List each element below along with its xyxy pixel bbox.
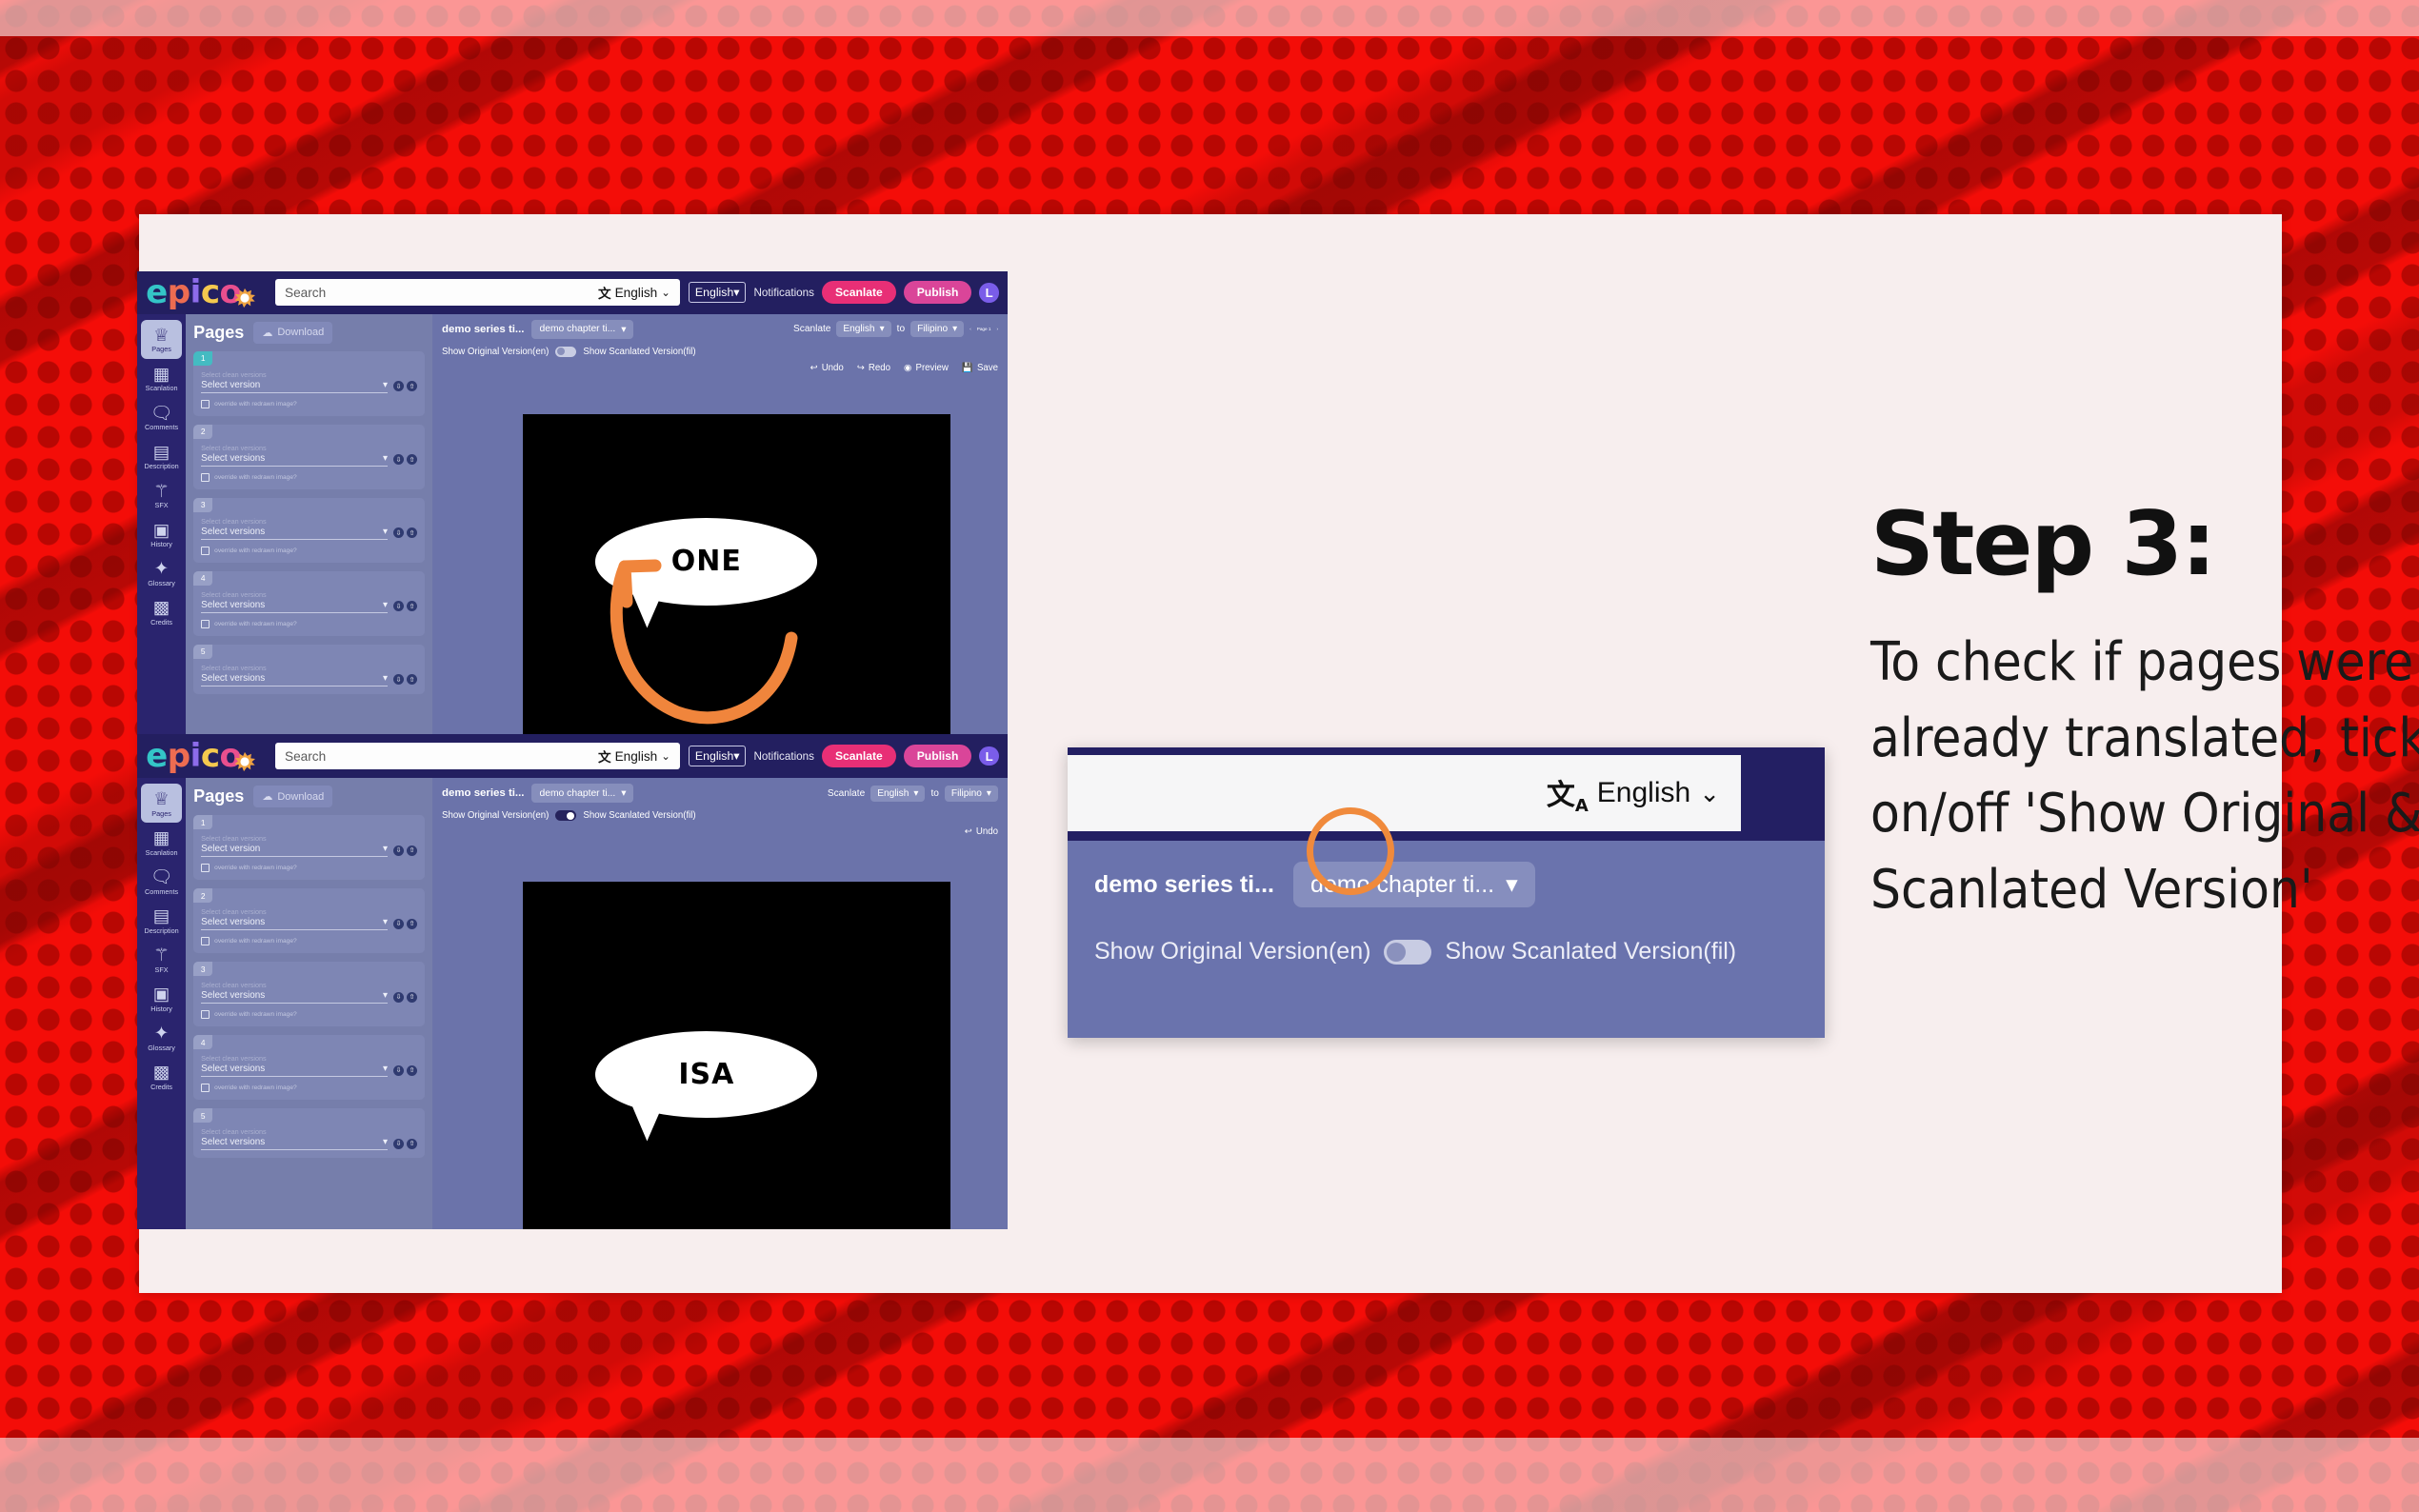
version-toggle[interactable] [555,347,576,357]
pages-panel-header: Pages ☁ Download [193,322,425,344]
logo-letter-p: p [168,737,190,775]
page-card-version-row: Select versions▾ ⇩⇧ [201,917,417,930]
scanlate-label: Scanlate [793,324,830,334]
download-label: Download [277,327,324,338]
search-input[interactable]: Search [285,749,598,764]
page-card-version-row: Select versions▾ ⇩⇧ [201,673,417,686]
override-checkbox[interactable] [201,620,210,628]
page-number-badge: 5 [193,1108,212,1123]
page-card-version-row: Select versions▾ ⇩⇧ [201,990,417,1004]
cloud-download-icon[interactable]: ⇩ [393,454,404,465]
override-checkbox-row[interactable]: override with redrawn image? [201,864,417,872]
translate-icon: 文 [598,283,611,302]
version-toggle-row: Show Original Version(en) Show Scanlated… [442,810,998,821]
sidebar-item-comments[interactable]: 🗨 Comments [137,862,186,901]
page-download-icons[interactable]: ⇩⇧ [393,1139,417,1149]
document-icon: ▤ [153,907,170,925]
language-button[interactable]: English▾ [689,746,747,766]
page-card-label: Select clean versions [201,834,417,843]
sidebar-item-label: Comments [145,888,178,895]
page-card-version-row: Select version▾ ⇩⇧ [201,844,417,857]
bottom-overlay-band [0,1438,2419,1512]
app-sidebar: ♕ Pages ▦ Scanlation 🗨 Comments ▤ Descri… [137,314,186,749]
page-card-label: Select clean versions [201,664,417,672]
scanlate-button[interactable]: Scanlate [822,281,896,304]
sfx-icon: ⚚ [153,483,170,501]
callout-show-original-label: Show Original Version(en) [1094,938,1370,965]
chevron-down-icon: ▾ [383,527,388,537]
download-button[interactable]: ☁ Download [253,322,332,344]
sidebar-item-label: Pages [151,810,171,817]
page-canvas[interactable]: ISA [523,882,950,1229]
logo-splat-icon [234,743,267,775]
target-language-dropdown[interactable]: Filipino▾ [945,786,998,802]
chevron-down-icon: ⌄ [1699,779,1720,808]
page-number-badge: 3 [193,962,212,976]
comment-sparkle-icon: 🗨 [150,868,173,886]
chevron-down-icon: ▾ [383,600,388,610]
page-card[interactable]: 5 Select clean versions Select versions▾… [193,645,425,694]
chevron-down-icon: ⌄ [661,749,670,763]
page-download-icons[interactable]: ⇩⇧ [393,1065,417,1076]
cloud-download-icon[interactable]: ⇩ [393,1065,404,1076]
select-version-dropdown[interactable]: Select version▾ [201,380,388,393]
cloud-download-icon[interactable]: ⇩ [393,674,404,685]
cloud-upload-icon[interactable]: ⇧ [407,381,417,391]
page-number-badge: 5 [193,645,212,659]
sidebar-item-credits[interactable]: ▩ Credits [137,592,186,631]
scanlate-language-group: Scanlate English▾ to Filipino▾ [828,786,998,802]
sidebar-item-pages[interactable]: ♕ Pages [141,320,182,359]
override-checkbox-row[interactable]: override with redrawn image? [201,473,417,482]
search-input[interactable]: Search [285,286,598,300]
toggle-knob [567,812,574,820]
epico-logo: epico [146,737,267,775]
app-screenshot-original-version: epico Search 文 English ⌄ English▾ Notifi… [137,271,1008,749]
pages-panel: Pages ☁ Download 1 Select clean versions… [186,314,432,749]
chevron-down-icon: ▾ [952,324,957,334]
page-number-badge: 3 [193,498,212,512]
callout-show-scanlated-label: Show Scanlated Version(fil) [1445,938,1736,965]
page-canvas[interactable]: ONE [523,414,950,749]
chevron-down-icon: ▾ [383,917,388,927]
callout-version-toggle-row: Show Original Version(en) Show Scanlated… [1094,938,1798,965]
sidebar-item-label: Glossary [148,1044,175,1051]
sidebar-item-credits[interactable]: ▩ Credits [137,1057,186,1096]
search-bar[interactable]: Search 文 English ⌄ [275,279,680,306]
sparkles-icon: ✦ [154,560,170,578]
logo-letter-c: c [201,273,220,311]
override-checkbox[interactable] [201,547,210,555]
pages-panel: Pages ☁ Download 1 Select clean versions… [186,778,432,1229]
page-card-version-row: Select versions▾ ⇩⇧ [201,453,417,467]
chevron-down-icon: ▾ [621,324,626,335]
page-card-label: Select clean versions [201,517,417,526]
panel-icon: ▦ [153,366,170,384]
cloud-download-icon[interactable]: ⇩ [393,846,404,856]
override-checkbox[interactable] [201,400,210,408]
page-card-label: Select clean versions [201,981,417,989]
cloud-upload-icon[interactable]: ⇧ [407,674,417,685]
select-version-dropdown[interactable]: Select versions▾ [201,673,388,686]
search-language-label: English [615,286,658,300]
redo-icon: ↪ [857,363,865,373]
notifications-link[interactable]: Notifications [753,287,814,299]
sidebar-item-label: Scanlation [146,385,178,391]
credits-icon: ▩ [153,1064,170,1082]
page-card-label: Select clean versions [201,444,417,452]
sidebar-item-label: Glossary [148,580,175,587]
app-workspace: Pages ☁ Download 1 Select clean versions… [186,778,1008,1229]
search-bar[interactable]: Search 文 English ⌄ [275,743,680,770]
chevron-right-icon[interactable]: › [996,327,998,331]
publish-button[interactable]: Publish [904,281,972,304]
override-checkbox[interactable] [201,1084,210,1092]
override-checkbox-row[interactable]: override with redrawn image? [201,620,417,628]
sidebar-item-label: SFX [155,502,169,508]
download-button[interactable]: ☁ Download [253,786,332,807]
override-checkbox-row[interactable]: override with redrawn image? [201,400,417,408]
app-sidebar: ♕ Pages ▦ Scanlation 🗨 Comments ▤ Descri… [137,778,186,1229]
pages-panel-header: Pages ☁ Download [193,786,425,807]
cloud-download-icon: ☁ [262,327,272,339]
show-scanlated-label: Show Scanlated Version(fil) [583,347,695,357]
sidebar-item-label: History [150,541,172,547]
show-original-label: Show Original Version(en) [442,347,549,357]
sidebar-item-scanlation[interactable]: ▦ Scanlation [137,823,186,862]
topbar-actions: English▾ Notifications Scanlate Publish … [689,745,999,767]
override-checkbox-label: override with redrawn image? [214,1011,297,1018]
cloud-upload-icon[interactable]: ⇧ [407,919,417,929]
search-language-selector[interactable]: 文 English ⌄ [598,283,670,302]
select-version-dropdown[interactable]: Select versions▾ [201,527,388,540]
scanlate-button[interactable]: Scanlate [822,745,896,767]
cloud-upload-icon[interactable]: ⇧ [407,454,417,465]
scanlate-language-group: Scanlate English▾ to Filipino▾ ‹Page 1› [793,321,998,337]
override-checkbox-label: override with redrawn image? [214,401,297,408]
sidebar-item-comments[interactable]: 🗨 Comments [137,398,186,437]
document-icon: ▤ [153,444,170,462]
override-checkbox-label: override with redrawn image? [214,621,297,627]
series-title: demo series ti... [442,787,524,799]
chevron-down-icon: ▾ [383,673,388,684]
chapter-dropdown[interactable]: demo chapter ti...▾ [531,784,633,803]
select-version-dropdown[interactable]: Select versions▾ [201,1064,388,1077]
toggle-knob [557,348,565,355]
canvas-header-row-titles: demo series ti... demo chapter ti...▾ Sc… [442,320,998,339]
chevron-down-icon: ▾ [880,324,885,334]
select-version-dropdown[interactable]: Select versions▾ [201,1137,388,1150]
page-card[interactable]: 1 Select clean versions Select version▾ … [193,815,425,880]
page-card-version-row: Select versions▾ ⇩⇧ [201,600,417,613]
publish-button[interactable]: Publish [904,745,972,767]
cloud-download-icon[interactable]: ⇩ [393,601,404,611]
sidebar-item-label: Credits [150,1084,172,1090]
cloud-upload-icon[interactable]: ⇧ [407,992,417,1003]
select-version-dropdown[interactable]: Select versions▾ [201,600,388,613]
pages-panel-title: Pages [193,786,244,806]
version-toggle-row: Show Original Version(en) Show Scanlated… [442,347,998,357]
sidebar-item-history[interactable]: ▣ History [137,515,186,554]
chevron-down-icon: ▾ [383,1064,388,1074]
page-card[interactable]: 4 Select clean versions Select versions▾… [193,1035,425,1100]
page-card-label: Select clean versions [201,370,417,379]
page-download-icons[interactable]: ⇩⇧ [393,992,417,1003]
canvas-header-row-titles: demo series ti... demo chapter ti...▾ Sc… [442,784,998,803]
download-label: Download [277,791,324,803]
chevron-down-icon: ⌄ [661,286,670,299]
logo-splat-icon [234,279,267,311]
search-language-label: English [615,749,658,764]
undo-icon: ↩ [810,363,818,373]
page-card[interactable]: 3 Select clean versions Select versions▾… [193,498,425,563]
callout-title-row: demo series ti... demo chapter ti... ▾ [1094,862,1798,907]
page-title: Step 3: [1870,500,2419,588]
app-topbar: epico Search 文 English ⌄ English▾ Notifi… [137,271,1008,314]
chapter-selector-group: demo series ti... demo chapter ti...▾ [442,784,633,803]
sidebar-item-description[interactable]: ▤ Description [137,437,186,476]
app-workspace: Pages ☁ Download 1 Select clean versions… [186,314,1008,749]
sparkles-icon: ✦ [154,1025,170,1043]
chevron-down-icon: ▾ [383,1137,388,1147]
page-card-version-row: Select versions▾ ⇩⇧ [201,1137,417,1150]
page-card[interactable]: 2 Select clean versions Select versions▾… [193,425,425,489]
sidebar-item-label: Description [144,927,178,934]
chevron-down-icon: ▾ [383,380,388,390]
page-card-version-row: Select versions▾ ⇩⇧ [201,527,417,540]
chapter-selector-group: demo series ti... demo chapter ti...▾ [442,320,633,339]
callout-body: demo series ti... demo chapter ti... ▾ S… [1068,841,1825,1038]
redo-button[interactable]: ↪Redo [857,363,890,373]
canvas-header: demo series ti... demo chapter ti...▾ Sc… [432,778,1008,882]
chapter-dropdown[interactable]: demo chapter ti...▾ [531,320,633,339]
translate-icon: 文A [1547,771,1589,816]
undo-icon: ↩ [965,826,972,837]
logo-letter-i: i [190,737,201,775]
source-language-dropdown[interactable]: English▾ [836,321,890,337]
sidebar-item-label: History [150,1005,172,1012]
override-checkbox[interactable] [201,1010,210,1019]
sidebar-item-sfx[interactable]: ⚚ SFX [137,476,186,515]
override-checkbox-row[interactable]: override with redrawn image? [201,1010,417,1019]
target-language-dropdown[interactable]: Filipino▾ [910,321,964,337]
editor-actions: ↩Undo ↪Redo ◉Preview 💾Save [442,363,998,373]
sfx-icon: ⚚ [153,946,170,965]
override-checkbox-row[interactable]: override with redrawn image? [201,937,417,945]
canvas-header: demo series ti... demo chapter ti...▾ Sc… [432,314,1008,414]
speech-bubble-tail [629,1095,671,1143]
crown-icon: ♕ [153,327,170,345]
select-version-dropdown[interactable]: Select versions▾ [201,917,388,930]
series-title: demo series ti... [442,324,524,335]
page-download-icons[interactable]: ⇩⇧ [393,454,417,465]
cloud-upload-icon[interactable]: ⇧ [407,846,417,856]
chevron-down-icon: ▾ [987,788,991,799]
avatar[interactable]: L [979,746,998,766]
app-screenshot-scanlated-version: epico Search 文 English ⌄ English▾ Notifi… [137,734,1008,1229]
top-overlay-band [0,0,2419,36]
version-toggle[interactable] [555,810,576,821]
select-version-dropdown[interactable]: Select versions▾ [201,453,388,467]
chevron-left-icon[interactable]: ‹ [970,327,971,331]
cloud-download-icon: ☁ [262,790,272,803]
chevron-down-icon: ▾ [621,787,626,799]
sidebar-item-scanlation[interactable]: ▦ Scanlation [137,359,186,398]
override-checkbox-label: override with redrawn image? [214,547,297,554]
undo-button[interactable]: ↩Undo [965,826,998,837]
speech-bubble-text: ISA [678,1058,734,1091]
to-label: to [897,324,905,334]
sidebar-item-glossary[interactable]: ✦ Glossary [137,1018,186,1057]
cloud-download-icon[interactable]: ⇩ [393,527,404,538]
sidebar-item-history[interactable]: ▣ History [137,979,186,1018]
sidebar-item-pages[interactable]: ♕ Pages [141,784,182,823]
page-number-badge: 2 [193,888,212,903]
page-card-label: Select clean versions [201,1054,417,1063]
speech-bubble: ISA [595,1031,817,1118]
page-download-icons[interactable]: ⇩⇧ [393,674,417,685]
translate-icon: 文 [598,746,611,766]
logo-letter-p: p [168,273,190,311]
undo-button[interactable]: ↩Undo [810,363,844,373]
page-card[interactable]: 5 Select clean versions Select versions▾… [193,1108,425,1158]
pages-panel-title: Pages [193,323,244,343]
logo-letter-i: i [190,273,201,311]
language-button[interactable]: English▾ [689,282,747,303]
chevron-down-icon: ▾ [913,788,918,799]
page-download-icons[interactable]: ⇩⇧ [393,601,417,611]
page-card[interactable]: 2 Select clean versions Select versions▾… [193,888,425,953]
cloud-download-icon[interactable]: ⇩ [393,1139,404,1149]
cloud-upload-icon[interactable]: ⇧ [407,1139,417,1149]
page-card-version-row: Select version▾ ⇩⇧ [201,380,417,393]
select-version-dropdown[interactable]: Select versions▾ [201,990,388,1004]
page-card[interactable]: 1 Select clean versions Select version▾ … [193,351,425,416]
zoomed-callout-overlay: 文A English ⌄ demo series ti... demo chap… [1068,747,1825,1038]
callout-language-selector[interactable]: 文A English ⌄ [1547,771,1720,816]
sidebar-item-label: Credits [150,619,172,626]
page-card[interactable]: 3 Select clean versions Select versions▾… [193,962,425,1026]
save-icon: 💾 [962,363,973,373]
logo-letter-e: e [146,273,168,311]
instruction-text-column: Step 3: To check if pages were already t… [1870,500,2419,927]
show-scanlated-label: Show Scanlated Version(fil) [583,810,695,821]
toggle-knob [1387,943,1406,962]
override-checkbox-row[interactable]: override with redrawn image? [201,547,417,555]
logo-letter-c: c [201,737,220,775]
override-checkbox[interactable] [201,864,210,872]
app-topbar: epico Search 文 English ⌄ English▾ Notifi… [137,734,1008,778]
select-version-dropdown[interactable]: Select version▾ [201,844,388,857]
credits-icon: ▩ [153,599,170,617]
sidebar-item-sfx[interactable]: ⚚ SFX [137,940,186,979]
search-language-selector[interactable]: 文 English ⌄ [598,746,670,766]
cloud-download-icon[interactable]: ⇩ [393,381,404,391]
chevron-down-icon: ▾ [383,453,388,464]
epico-logo: epico [146,273,267,311]
override-checkbox-label: override with redrawn image? [214,474,297,481]
callout-version-toggle[interactable] [1384,940,1431,965]
save-button[interactable]: 💾Save [962,363,998,373]
instruction-body-text: To check if pages were already translate… [1870,625,2419,927]
cloud-download-icon[interactable]: ⇩ [393,992,404,1003]
speech-bubble-tail [629,582,671,629]
to-label: to [930,788,938,799]
page-download-icons[interactable]: ⇩⇧ [393,381,417,391]
sidebar-item-label: SFX [155,966,169,973]
callout-search-bar[interactable]: 文A English ⌄ [1068,755,1741,831]
override-checkbox-row[interactable]: override with redrawn image? [201,1084,417,1092]
page-card-version-row: Select versions▾ ⇩⇧ [201,1064,417,1077]
page-number-badge: 4 [193,1035,212,1049]
scanlate-label: Scanlate [828,788,865,799]
page-card-label: Select clean versions [201,590,417,599]
page-download-icons[interactable]: ⇩⇧ [393,919,417,929]
show-original-label: Show Original Version(en) [442,810,549,821]
page-download-icons[interactable]: ⇩⇧ [393,846,417,856]
pager[interactable]: ‹Page 1› [970,327,998,331]
history-icon: ▣ [153,522,170,540]
chevron-down-icon: ▾ [383,844,388,854]
page-number-badge: 1 [193,815,212,829]
notifications-link[interactable]: Notifications [753,750,814,763]
avatar[interactable]: L [979,283,998,302]
source-language-dropdown[interactable]: English▾ [870,786,925,802]
page-card[interactable]: 4 Select clean versions Select versions▾… [193,571,425,636]
cloud-download-icon[interactable]: ⇩ [393,919,404,929]
speech-bubble: ONE [595,518,817,606]
callout-language-label: English [1597,777,1690,809]
page-download-icons[interactable]: ⇩⇧ [393,527,417,538]
override-checkbox-label: override with redrawn image? [214,1084,297,1091]
page-number-badge: 1 [193,351,212,366]
topbar-actions: English▾ Notifications Scanlate Publish … [689,281,999,304]
sidebar-item-label: Scanlation [146,849,178,856]
cloud-upload-icon[interactable]: ⇧ [407,601,417,611]
override-checkbox-label: override with redrawn image? [214,865,297,871]
logo-letter-e: e [146,737,168,775]
override-checkbox[interactable] [201,937,210,945]
chevron-down-icon: ▾ [1506,870,1518,899]
page-card-label: Select clean versions [201,1127,417,1136]
sidebar-item-glossary[interactable]: ✦ Glossary [137,553,186,592]
preview-button[interactable]: ◉Preview [904,363,949,373]
comment-sparkle-icon: 🗨 [150,405,173,423]
pager-label: Page 1 [977,327,991,331]
editor-actions: ↩Undo [442,826,998,837]
sidebar-item-label: Comments [145,424,178,430]
page-number-badge: 2 [193,425,212,439]
callout-series-title: demo series ti... [1094,871,1274,899]
chevron-down-icon: ▾ [383,990,388,1001]
sidebar-item-label: Description [144,463,178,469]
sidebar-item-label: Pages [151,346,171,352]
override-checkbox[interactable] [201,473,210,482]
cloud-upload-icon[interactable]: ⇧ [407,1065,417,1076]
panel-icon: ▦ [153,829,170,847]
speech-bubble-text: ONE [671,545,742,578]
page-number-badge: 4 [193,571,212,586]
cloud-upload-icon[interactable]: ⇧ [407,527,417,538]
override-checkbox-label: override with redrawn image? [214,938,297,945]
sidebar-item-description[interactable]: ▤ Description [137,901,186,940]
eye-icon: ◉ [904,363,911,373]
page-card-label: Select clean versions [201,907,417,916]
history-icon: ▣ [153,985,170,1004]
slide-card: epico Search 文 English ⌄ English▾ Notifi… [139,214,2282,1293]
crown-icon: ♕ [153,790,170,808]
